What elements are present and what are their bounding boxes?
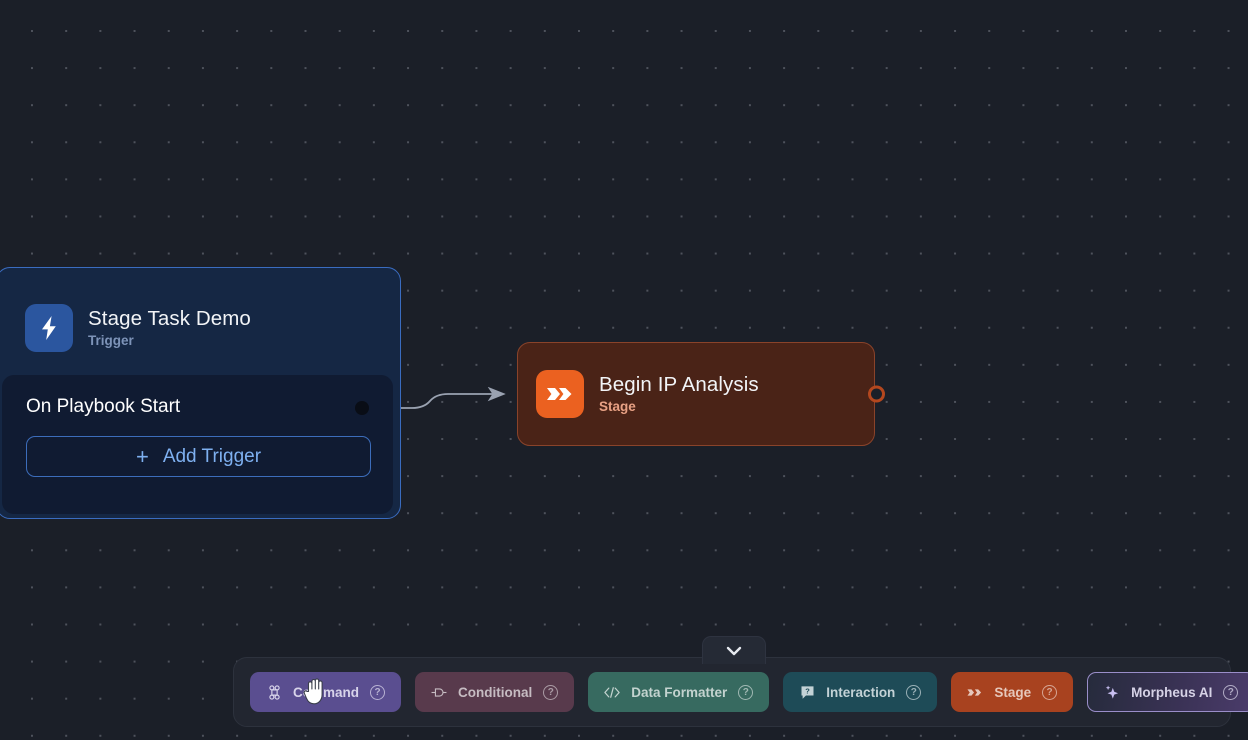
- logic-gate-icon: [431, 684, 447, 700]
- stage-output-port[interactable]: [868, 386, 885, 403]
- plus-icon: +: [136, 446, 149, 468]
- node-stage-title: Begin IP Analysis: [599, 375, 759, 396]
- palette-button-conditional-label: Conditional: [458, 685, 532, 700]
- node-trigger-body[interactable]: On Playbook Start + Add Trigger: [2, 375, 393, 514]
- node-trigger-title: Stage Task Demo: [88, 309, 251, 330]
- palette-button-interaction-label: Interaction: [826, 685, 895, 700]
- node-trigger-header: Stage Task Demo Trigger: [0, 268, 400, 368]
- add-trigger-label: Add Trigger: [163, 446, 261, 468]
- help-icon[interactable]: ?: [738, 685, 753, 700]
- palette-button-command[interactable]: Command ?: [250, 672, 401, 712]
- node-palette-toolbar[interactable]: Command ? Conditional ?: [233, 657, 1231, 727]
- node-stage-subtitle: Stage: [599, 400, 759, 414]
- node-stage[interactable]: Begin IP Analysis Stage: [517, 342, 875, 446]
- flow-canvas[interactable]: Stage Task Demo Trigger On Playbook Star…: [0, 0, 1248, 740]
- add-trigger-button[interactable]: + Add Trigger: [26, 436, 371, 477]
- node-stage-titles: Begin IP Analysis Stage: [599, 375, 759, 414]
- palette-button-stage[interactable]: Stage ?: [951, 672, 1073, 712]
- chevron-down-icon: [726, 646, 742, 656]
- help-icon[interactable]: ?: [370, 685, 385, 700]
- command-key-icon: [266, 684, 282, 700]
- node-trigger-subtitle: Trigger: [88, 334, 251, 348]
- palette-button-stage-label: Stage: [994, 685, 1031, 700]
- palette-button-conditional[interactable]: Conditional ?: [415, 672, 574, 712]
- double-chevron-icon: [536, 370, 584, 418]
- palette-button-interaction[interactable]: ? Interaction ?: [783, 672, 937, 712]
- code-brackets-icon: [604, 684, 620, 700]
- help-icon[interactable]: ?: [906, 685, 921, 700]
- help-icon[interactable]: ?: [543, 685, 558, 700]
- trigger-output-port[interactable]: [355, 401, 369, 415]
- help-icon[interactable]: ?: [1042, 685, 1057, 700]
- palette-button-data-formatter-label: Data Formatter: [631, 685, 727, 700]
- trigger-body-label: On Playbook Start: [26, 397, 369, 416]
- svg-text:?: ?: [805, 686, 810, 695]
- palette-button-data-formatter[interactable]: Data Formatter ?: [588, 672, 769, 712]
- sparkle-icon: [1104, 684, 1120, 700]
- lightning-bolt-icon: [25, 304, 73, 352]
- chat-bubble-icon: ?: [799, 684, 815, 700]
- node-trigger[interactable]: Stage Task Demo Trigger On Playbook Star…: [0, 267, 401, 519]
- toolbar-collapse-button[interactable]: [702, 636, 766, 664]
- palette-button-morpheus-ai[interactable]: Morpheus AI ?: [1087, 672, 1248, 712]
- node-trigger-titles: Stage Task Demo Trigger: [88, 309, 251, 348]
- palette-button-morpheus-ai-label: Morpheus AI: [1131, 685, 1212, 700]
- palette-button-command-label: Command: [293, 685, 359, 700]
- help-icon[interactable]: ?: [1223, 685, 1238, 700]
- double-chevron-icon: [967, 684, 983, 700]
